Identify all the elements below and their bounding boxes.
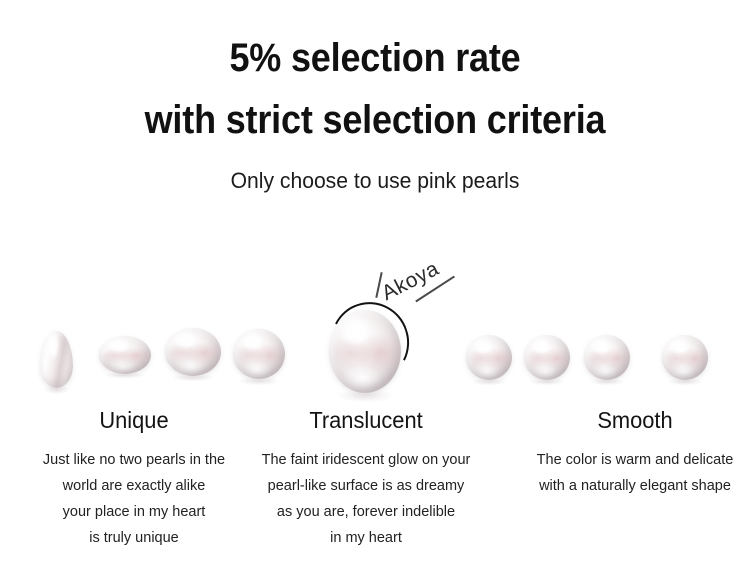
callout-arc [321, 292, 420, 392]
caption-column-translucent: Translucent The faint iridescent glow on… [249, 405, 483, 551]
pearl-smooth-3 [584, 335, 630, 380]
pearl-feature-banner: 5% selection rate with strict selection … [0, 0, 750, 572]
caption-line: with a naturally elegant shape [518, 473, 750, 499]
pearl-unique-2 [99, 336, 151, 374]
pearl-unique-3 [165, 328, 221, 376]
caption-title-unique: Unique [24, 405, 244, 435]
pearl-unique-1 [40, 331, 73, 388]
akoya-label: Akoya [378, 257, 443, 306]
pearl-smooth-4 [662, 335, 708, 380]
caption-line: in my heart [249, 525, 483, 551]
pearl-stage: Akoya [0, 230, 750, 405]
headline-line-2: with strict selection criteria [38, 98, 713, 142]
caption-line: The faint iridescent glow on your [249, 447, 483, 473]
caption-line: Just like no two pearls in the [18, 447, 250, 473]
caption-line: is truly unique [18, 525, 250, 551]
caption-title-translucent: Translucent [255, 405, 477, 435]
caption-line: your place in my heart [18, 499, 250, 525]
caption-body-unique: Just like no two pearls in the world are… [18, 447, 250, 551]
headline-line-1: 5% selection rate [38, 36, 713, 80]
caption-body-translucent: The faint iridescent glow on your pearl-… [249, 447, 483, 551]
caption-column-smooth: Smooth The color is warm and delicate wi… [518, 405, 750, 499]
subtitle: Only choose to use pink pearls [15, 167, 735, 195]
caption-row: Unique Just like no two pearls in the wo… [0, 405, 750, 572]
caption-body-smooth: The color is warm and delicate with a na… [518, 447, 750, 499]
caption-line: pearl-like surface is as dreamy [249, 473, 483, 499]
caption-title-smooth: Smooth [524, 405, 746, 435]
caption-line: world are exactly alike [18, 473, 250, 499]
pearl-smooth-2 [524, 335, 570, 380]
caption-line: The color is warm and delicate [518, 447, 750, 473]
pearl-smooth-1 [466, 335, 512, 380]
pearl-unique-4 [233, 329, 285, 379]
caption-column-unique: Unique Just like no two pearls in the wo… [18, 405, 250, 551]
caption-line: as you are, forever indelible [249, 499, 483, 525]
